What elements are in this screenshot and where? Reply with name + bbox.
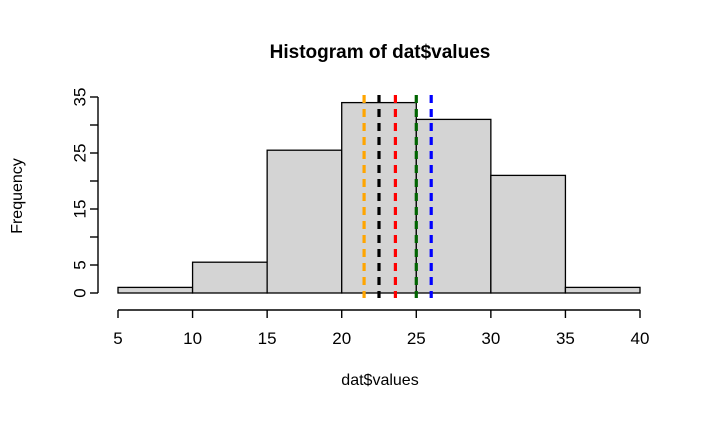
x-axis-tick-label: 35 [556,329,575,348]
histogram-bar [118,287,193,293]
x-axis-tick-label: 40 [631,329,650,348]
page-title: Histogram of dat$values [270,42,491,63]
histogram-bar [267,150,342,293]
y-axis-tick-label: 15 [71,200,90,219]
y-axis-tick-label: 5 [71,260,90,269]
histogram-bar [565,287,640,293]
histogram-bar [416,119,491,293]
x-axis-tick-label: 30 [481,329,500,348]
histogram-bar [491,175,566,293]
y-axis-label: Frequency [9,158,26,234]
x-axis-tick-label: 20 [332,329,351,348]
y-axis-tick-label: 0 [71,288,90,297]
x-axis-tick-label: 5 [113,329,122,348]
histogram-bar [193,262,268,293]
x-axis-tick-label: 25 [407,329,426,348]
x-axis-tick-label: 15 [258,329,277,348]
histogram-plot: Histogram of dat$values 05152535 5101520… [0,0,710,426]
y-axis-tick-label: 25 [71,144,90,163]
x-axis-tick-label: 10 [183,329,202,348]
x-axis-label: dat$values [341,372,418,389]
y-axis-tick-label: 35 [71,88,90,107]
